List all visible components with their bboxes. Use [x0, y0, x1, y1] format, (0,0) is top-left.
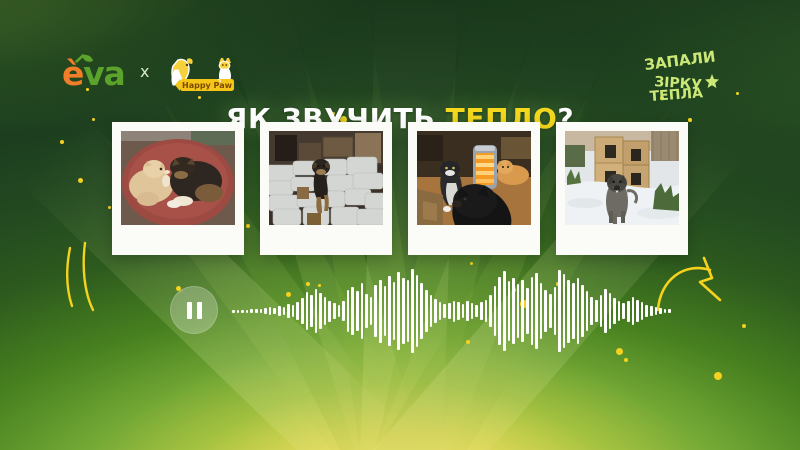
waveform-bar [370, 297, 373, 326]
waveform-bar [503, 271, 506, 351]
waveform-bar [554, 287, 557, 335]
photo-card[interactable] [408, 122, 540, 255]
waveform-bar [430, 295, 433, 328]
waveform-bar [558, 270, 561, 352]
waveform-bar [379, 280, 382, 343]
campaign-logo[interactable]: ЗАПАЛИ ЗІРКУ ТЕПЛА [642, 50, 728, 106]
waveform-bar [480, 302, 483, 319]
waveform-bar [269, 307, 272, 315]
waveform-bar [466, 301, 469, 320]
waveform-bar [287, 304, 290, 317]
waveform-bar [407, 280, 410, 341]
waveform-bar [310, 295, 313, 328]
waveform-bar [328, 301, 331, 322]
waveform-bar [494, 286, 497, 336]
waveform-bar [351, 287, 354, 335]
waveform-bar [489, 295, 492, 328]
waveform-bar [544, 290, 547, 332]
waveform-bar [604, 289, 607, 333]
waveform-bar [443, 304, 446, 317]
waveform-bar [535, 273, 538, 349]
waveform-bar [526, 288, 529, 334]
waveform-bar [393, 282, 396, 339]
waveform-bar [498, 277, 501, 346]
happy-paw-logo[interactable]: Happy Paw [158, 50, 242, 96]
photo-strip [0, 122, 800, 256]
waveform-bar [567, 280, 570, 343]
waveform-bar [462, 304, 465, 317]
waveform-bar [255, 309, 258, 314]
eva-logo-accent: è [62, 54, 83, 93]
waveform-bar [595, 300, 598, 323]
waveform-bar [659, 308, 662, 314]
happy-paw-label: Happy Paw [182, 81, 233, 90]
waveform-bar [475, 305, 478, 317]
waveform-bar [241, 310, 244, 313]
waveform-bar [581, 285, 584, 337]
waveform-bar [632, 297, 635, 326]
photo-card[interactable] [112, 122, 244, 255]
waveform-bar [384, 286, 387, 336]
waveform-bar [508, 281, 511, 340]
audio-player [0, 286, 800, 356]
waveform-bar [627, 301, 630, 322]
photo-2-image [269, 131, 383, 225]
campaign-logo-line3: ТЕПЛА [649, 85, 703, 105]
waveform-bar [232, 310, 235, 313]
waveform-bar [577, 278, 580, 345]
waveform-bar [301, 298, 304, 325]
waveform-bar [361, 283, 364, 338]
waveform-bar [521, 280, 524, 341]
waveform-bar [296, 302, 299, 319]
waveform-bar [425, 290, 428, 332]
waveform-bar [420, 283, 423, 338]
waveform-bar [319, 293, 322, 329]
waveform-bar [586, 291, 589, 331]
waveform-bar [439, 302, 442, 319]
header: èva x [0, 48, 800, 100]
waveform-bar [517, 284, 520, 338]
waveform-bar [622, 303, 625, 318]
photo-4-image [565, 131, 679, 225]
waveform-bar [306, 292, 309, 330]
waveform-bar [600, 295, 603, 328]
waveform-bar [250, 309, 253, 313]
waveform-bar [471, 303, 474, 318]
eva-logo[interactable]: èva [62, 52, 138, 96]
waveform-bar [641, 302, 644, 319]
waveform-bar [324, 297, 327, 326]
waveform-bar [333, 303, 336, 318]
waveform-bar [315, 289, 318, 333]
waveform-bar [273, 308, 276, 315]
waveform-bar [549, 294, 552, 328]
waveform-bar [668, 309, 671, 313]
waveform-bar [590, 297, 593, 326]
waveform-bar [650, 306, 653, 316]
waveform-bar [655, 307, 658, 315]
waveform-bar [609, 293, 612, 329]
waveform-bar [237, 310, 240, 313]
photo-3-image [417, 131, 531, 225]
photo-card[interactable] [556, 122, 688, 255]
waveform-bar [283, 307, 286, 316]
waveform-bar [278, 306, 281, 316]
photo-1-image [121, 131, 235, 225]
waveform-bar [292, 305, 295, 317]
waveform-bar [356, 291, 359, 331]
waveform-bar [572, 283, 575, 338]
waveform-bar [388, 276, 391, 347]
waveform-bar [531, 277, 534, 346]
waveform-bar [613, 298, 616, 325]
pause-icon-bar-right [197, 302, 202, 319]
audio-waveform[interactable] [232, 266, 682, 356]
waveform-bar [512, 278, 515, 345]
waveform-bar [645, 305, 648, 317]
waveform-bar [411, 269, 414, 353]
waveform-bar [457, 302, 460, 319]
waveform-bar [434, 299, 437, 324]
waveform-bar [636, 300, 639, 323]
pause-icon-bar-left [187, 302, 192, 319]
waveform-bar [374, 285, 377, 337]
waveform-bar [453, 301, 456, 322]
waveform-bar [246, 310, 249, 313]
waveform-bar [402, 278, 405, 345]
campaign-logo-line1: ЗАПАЛИ [643, 50, 716, 74]
eva-logo-rest: va [83, 54, 124, 93]
waveform-bar [342, 301, 345, 320]
waveform-bar [338, 305, 341, 317]
waveform-bar [540, 283, 543, 338]
waveform-bar [264, 308, 267, 314]
waveform-bar [397, 272, 400, 350]
promo-banner: èva x [0, 0, 800, 450]
star-icon [705, 74, 719, 88]
collab-separator: x [140, 62, 149, 81]
waveform-bar [416, 275, 419, 348]
waveform-bar [664, 309, 667, 314]
waveform-bar [485, 300, 488, 323]
waveform-bar [260, 309, 263, 313]
play-pause-button[interactable] [170, 286, 218, 334]
waveform-bar [365, 294, 368, 328]
photo-card[interactable] [260, 122, 392, 255]
waveform-bar [448, 303, 451, 318]
waveform-bar [563, 274, 566, 349]
waveform-bar [618, 301, 621, 320]
waveform-bar [347, 290, 350, 332]
